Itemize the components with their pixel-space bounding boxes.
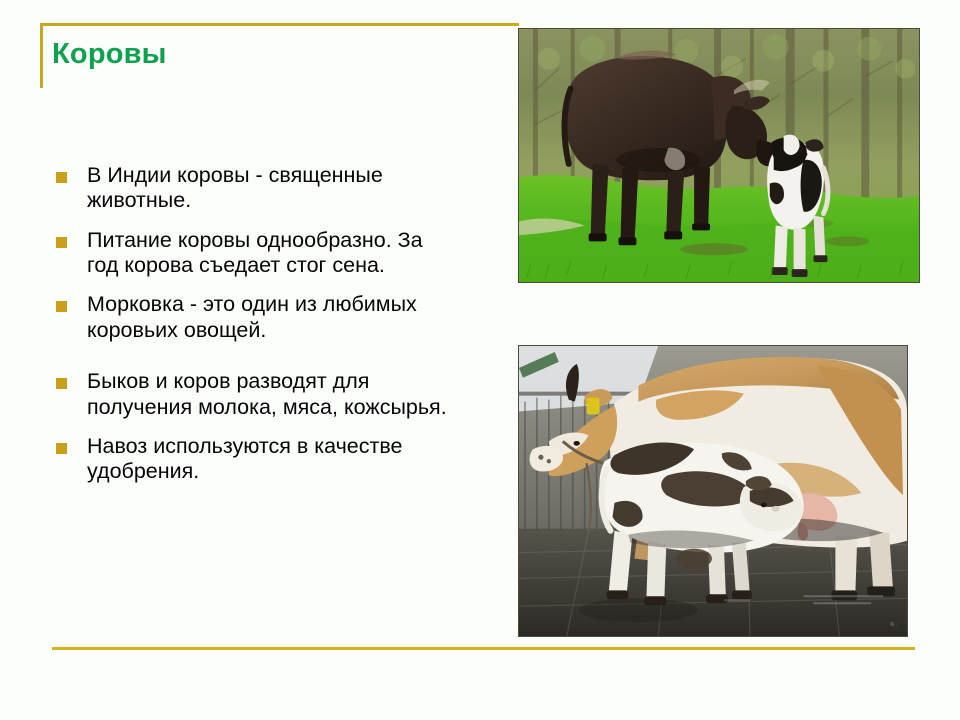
image-cow-licking-calf-in-pasture bbox=[518, 28, 920, 283]
list-item-text: Навоз используются в качестве удобрения. bbox=[87, 434, 456, 485]
list-item: Быков и коров разводят для получения мол… bbox=[56, 369, 456, 420]
footer-rule bbox=[52, 647, 915, 650]
list-item: Питание коровы однообразно. За год коров… bbox=[56, 228, 456, 279]
bullet-square-icon bbox=[56, 237, 67, 248]
title-left-rule bbox=[40, 23, 43, 88]
page-title: Коровы bbox=[52, 38, 167, 71]
bullet-square-icon bbox=[56, 443, 67, 454]
list-item: В Индии коровы - священные животные. bbox=[56, 163, 456, 214]
bullet-square-icon bbox=[56, 172, 67, 183]
bullet-square-icon bbox=[56, 301, 67, 312]
slide: Коровы В Индии коровы - священные животн… bbox=[0, 0, 960, 720]
list-item-text: Питание коровы однообразно. За год коров… bbox=[87, 228, 456, 279]
list-item: Морковка - это один из любимых коровьих … bbox=[56, 292, 456, 343]
bullet-list: В Индии коровы - священные животные. Пит… bbox=[56, 163, 456, 499]
image-cow-nursing-calf-in-barn: © . bbox=[518, 345, 908, 637]
list-item-text: Морковка - это один из любимых коровьих … bbox=[87, 292, 456, 343]
list-item-text: Быков и коров разводят для получения мол… bbox=[87, 369, 456, 420]
photo-bottom-artwork bbox=[519, 346, 907, 636]
list-item: Навоз используются в качестве удобрения. bbox=[56, 434, 456, 485]
photo-top-artwork bbox=[519, 29, 919, 282]
title-top-rule bbox=[40, 23, 519, 26]
bullet-square-icon bbox=[56, 378, 67, 389]
list-item-text: В Индии коровы - священные животные. bbox=[87, 163, 456, 214]
